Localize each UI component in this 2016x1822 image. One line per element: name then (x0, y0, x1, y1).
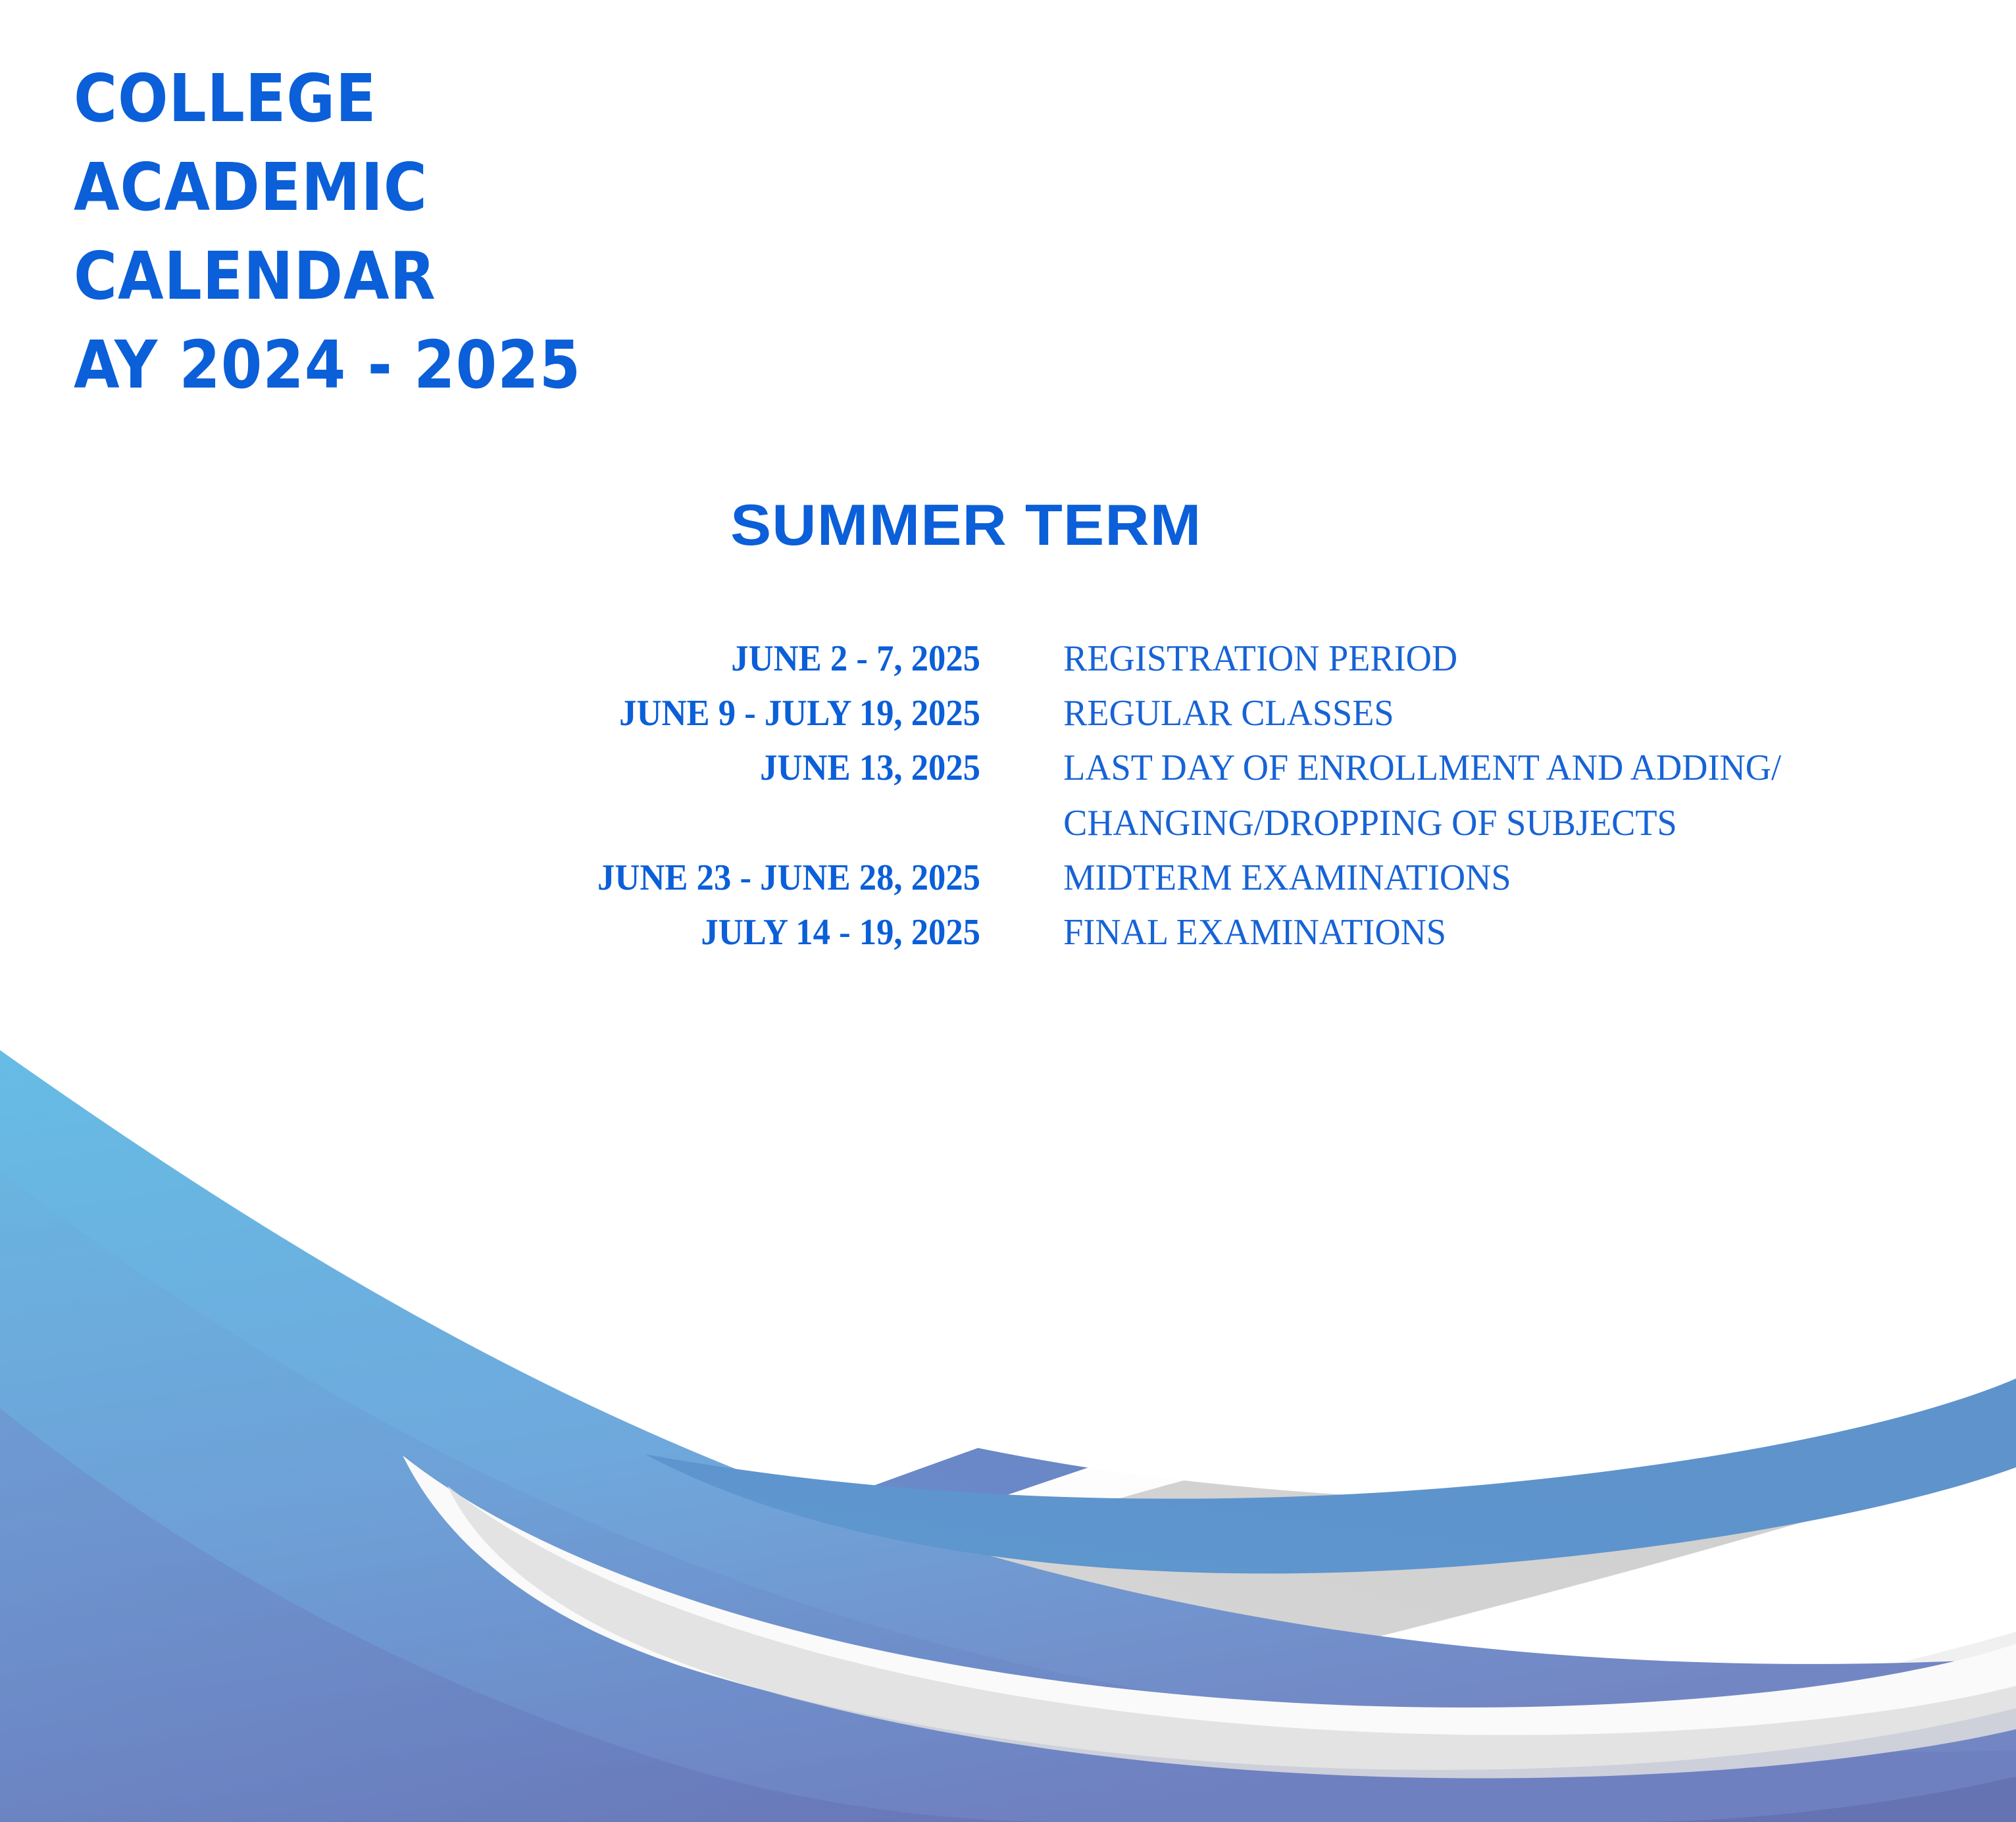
schedule-event-line: FINAL EXAMINATIONS (1063, 908, 1919, 957)
schedule-event: FINAL EXAMINATIONS (980, 908, 1919, 957)
schedule-event-line: REGISTRATION PERIOD (1063, 634, 1919, 684)
schedule-date: JULY 14 - 19, 2025 (491, 908, 980, 957)
schedule-row: JUNE 9 - JULY 19, 2025 REGULAR CLASSES (461, 689, 1948, 738)
schedule-event-line: MIDTERM EXAMINATIONS (1063, 853, 1919, 903)
schedule-list: JUNE 2 - 7, 2025 REGISTRATION PERIOD JUN… (461, 634, 1948, 963)
schedule-date: JUNE 2 - 7, 2025 (491, 634, 980, 684)
schedule-date: JUNE 9 - JULY 19, 2025 (491, 689, 980, 738)
schedule-row: JUNE 23 - JUNE 28, 2025 MIDTERM EXAMINAT… (461, 853, 1948, 903)
title-line-2: ACADEMIC (74, 143, 784, 232)
schedule-event: LAST DAY OF ENROLLMENT AND ADDING/ CHANG… (980, 744, 1919, 848)
schedule-date: JUNE 13, 2025 (491, 744, 980, 793)
title-line-1: COLLEGE (74, 54, 784, 143)
schedule-event: MIDTERM EXAMINATIONS (980, 853, 1919, 903)
page-title: COLLEGE ACADEMIC CALENDAR AY 2024 - 2025 (74, 54, 863, 409)
schedule-date: JUNE 23 - JUNE 28, 2025 (491, 853, 980, 903)
schedule-event-line: LAST DAY OF ENROLLMENT AND ADDING/ (1063, 744, 1919, 793)
schedule-row: JUNE 13, 2025 LAST DAY OF ENROLLMENT AND… (461, 744, 1948, 848)
schedule-event-line: CHANGING/DROPPING OF SUBJECTS (1063, 799, 1919, 848)
academic-calendar-page: COLLEGE ACADEMIC CALENDAR AY 2024 - 2025… (0, 0, 2016, 1822)
schedule-row: JUNE 2 - 7, 2025 REGISTRATION PERIOD (461, 634, 1948, 684)
schedule-event-line: REGULAR CLASSES (1063, 689, 1919, 738)
schedule-event: REGULAR CLASSES (980, 689, 1919, 738)
schedule-event: REGISTRATION PERIOD (980, 634, 1919, 684)
term-heading: SUMMER TERM (730, 495, 1201, 555)
schedule-row: JULY 14 - 19, 2025 FINAL EXAMINATIONS (461, 908, 1948, 957)
title-line-4: AY 2024 - 2025 (74, 320, 784, 409)
title-line-3: CALENDAR (74, 232, 784, 320)
